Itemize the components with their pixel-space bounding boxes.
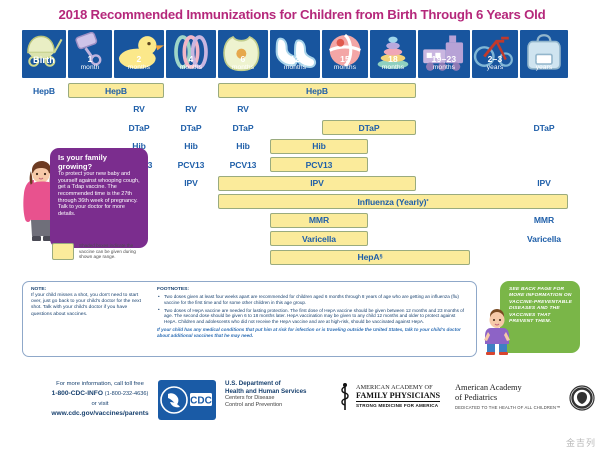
- toy-train-icon: [418, 32, 470, 54]
- age-column-4-months: 4months: [166, 30, 216, 78]
- vaccine-bar-hepb: HepB: [218, 83, 416, 98]
- aafp-line3: STRONG MEDICINE FOR AMERICA: [356, 402, 440, 410]
- vaccine-label-pcv13: PCV13: [166, 157, 216, 172]
- age-column-header-row: Birth1month2months4months6months12months…: [22, 30, 584, 78]
- aap-tagline: DEDICATED TO THE HEALTH OF ALL CHILDREN™: [455, 403, 561, 412]
- vaccine-label-hepb: HepB: [22, 83, 66, 98]
- vaccine-bar-mmr: MMR: [270, 213, 368, 228]
- footnote-marker: §: [380, 254, 383, 260]
- back-page-callout-text: SEE BACK PAGE FOR MORE INFORMATION ON VA…: [509, 287, 575, 325]
- backpack-icon: [520, 32, 568, 54]
- footnote-item: Two doses of HepA vaccine are needed for…: [164, 308, 469, 325]
- hhs-cdc-logo: CDC: [158, 380, 216, 420]
- aafp-logo-block: AMERICAN ACADEMY OF FAMILY PHYSICIANS ST…: [338, 382, 440, 412]
- footnotes-italic-note: If your child has any medical conditions…: [157, 327, 469, 339]
- age-column-1923-months: 19–23months: [418, 30, 470, 78]
- baby-socks-icon: [270, 32, 320, 54]
- aap-seal-icon: [569, 385, 595, 411]
- aap-line2: of Pediatrics: [455, 393, 561, 403]
- legend-text: Shaded boxes indicate the vaccine can be…: [79, 243, 141, 260]
- vaccine-bar-hepa: HepA§: [270, 250, 470, 265]
- footer: For more information, call toll free 1-8…: [0, 368, 604, 438]
- age-column-6-months: 6months: [218, 30, 268, 78]
- vaccine-label-dtap: DTaP: [218, 120, 268, 135]
- vaccine-label-rv: RV: [218, 102, 268, 117]
- immunization-schedule-poster: 2018 Recommended Immunizations for Child…: [0, 0, 604, 451]
- aap-line1: American Academy: [455, 383, 561, 393]
- vaccine-bar-hib: Hib: [270, 139, 368, 154]
- footnote-item: Two doses given at least four weeks apar…: [164, 294, 469, 306]
- vaccine-bar-ipv: IPV: [218, 176, 416, 191]
- vaccine-label-hib: Hib: [166, 139, 216, 154]
- contact-phone-bold[interactable]: 1-800-CDC-INFO: [52, 390, 103, 397]
- vaccine-bar-varicella: Varicella: [270, 231, 368, 246]
- aafp-line2: FAMILY PHYSICIANS: [356, 391, 440, 402]
- footnotes-heading: FOOTNOTES:: [157, 287, 469, 293]
- vaccine-label-dtap: DTaP: [114, 120, 164, 135]
- vaccine-label-dtap: DTaP: [520, 120, 568, 135]
- schedule-grid: Birth1month2months4months6months12months…: [22, 30, 584, 78]
- vaccine-bar-hepb: HepB: [68, 83, 164, 98]
- vaccine-label-ipv: IPV: [520, 176, 568, 191]
- note-footnotes-panel: NOTE: If your child misses a shot, you d…: [22, 281, 477, 357]
- contact-phone: 1-800-CDC-INFO (1-800-232-4636): [24, 389, 176, 400]
- beach-ball-icon: [322, 32, 368, 54]
- contact-line1: For more information, call toll free: [24, 380, 176, 389]
- vaccine-label-pcv13: PCV13: [218, 157, 268, 172]
- vaccine-label-ipv: IPV: [166, 176, 216, 191]
- age-column-46-years: 4–6years: [520, 30, 568, 78]
- pregnancy-callout-box: Is your family growing? To protect your …: [50, 148, 148, 248]
- stacking-rings-icon: [370, 32, 416, 54]
- vaccine-label-varicella: Varicella: [520, 231, 568, 246]
- footnotes-list: Two doses given at least four weeks apar…: [157, 294, 469, 325]
- stroller-icon: [22, 32, 66, 54]
- vaccine-row-dtap: DTaPDTaPDTaPDTaPDTaP: [22, 119, 584, 138]
- child-illustration: [480, 308, 514, 356]
- footnotes-block: FOOTNOTES: Two doses given at least four…: [153, 282, 476, 356]
- contact-phone-number: (1-800-232-4636): [105, 391, 149, 397]
- aafp-line1: AMERICAN ACADEMY OF: [356, 384, 440, 391]
- vaccine-row-hepb: HepBHepBHepB: [22, 82, 584, 101]
- vaccine-label-hib: Hib: [218, 139, 268, 154]
- vaccine-label-rv: RV: [114, 102, 164, 117]
- hhs-dept-line1: U.S. Department of: [225, 380, 307, 388]
- age-column-15-months: 15months: [322, 30, 368, 78]
- hhs-text-block: U.S. Department of Health and Human Serv…: [225, 380, 307, 409]
- cdc-logo-text: CDC: [190, 396, 212, 407]
- cdc-sub-line2: Control and Prevention: [225, 402, 307, 409]
- contact-block: For more information, call toll free 1-8…: [24, 380, 176, 418]
- pregnancy-callout: Is your family growing? To protect your …: [20, 148, 148, 252]
- page-title: 2018 Recommended Immunizations for Child…: [0, 0, 604, 22]
- note-block: NOTE: If your child misses a shot, you d…: [23, 282, 153, 356]
- vaccine-bar-influenza: Influenza (Yearly)*: [218, 194, 568, 209]
- vaccine-label-mmr: MMR: [520, 213, 568, 228]
- vaccine-bar-pcv13: PCV13: [270, 157, 368, 172]
- vaccine-bar-dtap: DTaP: [322, 120, 416, 135]
- hhs-dept-line2: Health and Human Services: [225, 388, 307, 396]
- vaccine-label-dtap: DTaP: [166, 120, 216, 135]
- legend: Shaded boxes indicate the vaccine can be…: [52, 243, 141, 260]
- age-column-1-month: 1month: [68, 30, 112, 78]
- pregnancy-callout-body: To protect your new baby and yourself ag…: [58, 171, 142, 217]
- watermark: 金吉列: [566, 436, 596, 449]
- pregnancy-callout-heading: Is your family growing?: [58, 154, 142, 171]
- aap-logo-block: American Academy of Pediatrics DEDICATED…: [455, 383, 595, 412]
- contact-line3: or visit: [24, 400, 176, 409]
- vaccine-label-rv: RV: [166, 102, 216, 117]
- age-column-23-years: 2–3years: [472, 30, 518, 78]
- age-column-18-months: 18months: [370, 30, 416, 78]
- legend-swatch: [52, 243, 74, 260]
- contact-website[interactable]: www.cdc.gov/vaccines/parents: [24, 409, 176, 419]
- age-column-2-months: 2months: [114, 30, 164, 78]
- age-column-12-months: 12months: [270, 30, 320, 78]
- footnote-marker: *: [426, 199, 428, 205]
- age-column-Birth: Birth: [22, 30, 66, 78]
- bib-icon: [218, 32, 268, 54]
- note-body: If your child misses a shot, you don't n…: [31, 293, 149, 318]
- vaccine-row-rv: RVRVRV: [22, 101, 584, 120]
- rubber-duck-icon: [114, 32, 164, 54]
- rattle-icon: [68, 32, 112, 54]
- tricycle-icon: [472, 32, 518, 54]
- cdc-sub-line1: Centers for Disease: [225, 395, 307, 402]
- teething-rings-icon: [166, 32, 216, 54]
- aafp-caduceus-icon: [338, 382, 352, 412]
